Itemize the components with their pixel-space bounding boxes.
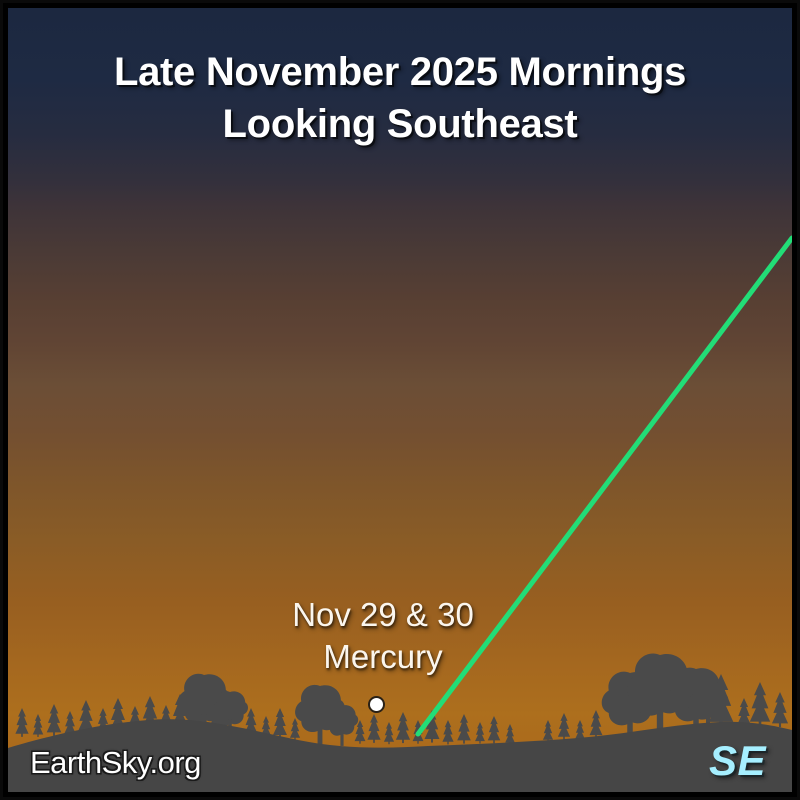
compass-direction-label: SE: [709, 738, 766, 784]
planet-dot-mercury: [368, 696, 385, 713]
chart-title-block: Late November 2025 Mornings Looking Sout…: [8, 46, 792, 150]
earthsky-watermark: EarthSky.org: [30, 745, 201, 781]
title-line-1: Late November 2025 Mornings: [8, 46, 792, 98]
sky-scene: Late November 2025 Mornings Looking Sout…: [8, 8, 792, 792]
mercury-object-label: Mercury: [188, 636, 578, 678]
mercury-date-label: Nov 29 & 30: [188, 594, 578, 636]
sky-chart-image: Late November 2025 Mornings Looking Sout…: [0, 0, 800, 800]
mercury-annotation-block: Nov 29 & 30 Mercury: [188, 594, 578, 678]
title-line-2: Looking Southeast: [8, 98, 792, 150]
